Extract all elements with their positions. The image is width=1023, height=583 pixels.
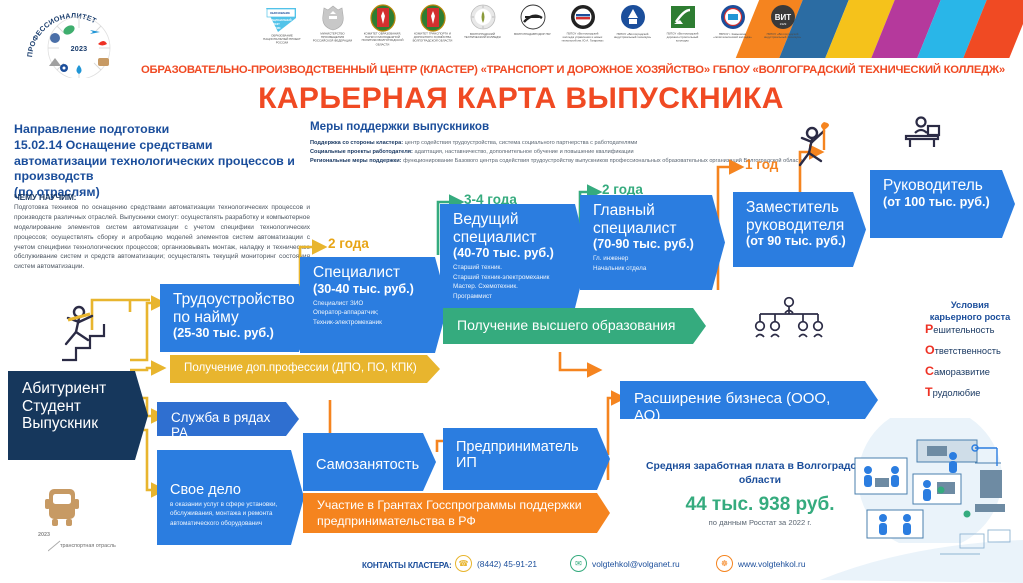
logo-committee-transport-roads: КОМИТЕТ ТРАНСПОРТА И ДОРОЖНОГО ХОЗЯЙСТВА… bbox=[413, 2, 452, 43]
growth-item-2: Саморазвитие bbox=[925, 364, 990, 378]
logo-road-construction-college: ГБПОУ «Волгоградский дорожно-строительны… bbox=[663, 2, 702, 43]
box-lead-specialist: Ведущий специалист (40-70 тыс. руб.) Ста… bbox=[440, 204, 588, 308]
logo-caption: МИНИСТЕРСТВО ПРОСВЕЩЕНИЯ РОССИЙСКОЙ ФЕДЕ… bbox=[311, 32, 355, 43]
box-grants: Участие в Грантах Госспрограммы поддержк… bbox=[303, 493, 610, 533]
box-title: Заместитель руководителя bbox=[746, 199, 848, 234]
svg-text:2023: 2023 bbox=[71, 44, 88, 53]
duration-label-1-year: 1 год bbox=[745, 157, 778, 172]
logo-caption: ВОЛГОГРАДСКИЙ ТЕХНИЧЕСКИЙ КОЛЛЕДЖ bbox=[461, 33, 505, 40]
career-map-infographic: ПРОФЕССИОНАЛИТЕТ 2023 ОБРАЗО bbox=[0, 0, 1023, 583]
box-title: Руководитель bbox=[883, 177, 997, 195]
support-text: центр содействия трудоустройства, систем… bbox=[403, 140, 637, 146]
box-title: Трудоустройство по найму bbox=[173, 291, 294, 326]
support-item-employer: Социальные проекты работодателя: адаптац… bbox=[310, 148, 830, 156]
teach-heading: ЧЕМУ НАУЧИМ: bbox=[14, 192, 76, 202]
box-salary: (30-40 тыс. руб.) bbox=[313, 282, 430, 297]
box-specialist: Специалист (30-40 тыс. руб.) Специалист … bbox=[300, 257, 448, 353]
box-roles: Старший техник. Старший техник-электроме… bbox=[453, 263, 570, 301]
globe-icon: ☸ bbox=[716, 555, 733, 572]
box-salary: (от 90 тыс. руб.) bbox=[746, 234, 848, 249]
support-text: адаптация, наставничество, дополнительно… bbox=[413, 149, 634, 155]
box-salary: (от 100 тыс. руб.) bbox=[883, 195, 997, 210]
logo-caption: ГБПОУ г. Камышина «политехнический колле… bbox=[711, 33, 755, 40]
svg-text:НАЦИОНАЛЬНЫЙ: НАЦИОНАЛЬНЫЙ bbox=[270, 19, 292, 22]
footer-phone-text: (8442) 45-91-21 bbox=[477, 559, 537, 569]
teach-text: Подготовка техников по оснащению средств… bbox=[14, 203, 310, 272]
growth-item-1: Ответственность bbox=[925, 343, 1001, 357]
support-label: Региональные меры поддержки: bbox=[310, 158, 402, 164]
box-army-service: Служба в рядах РА bbox=[157, 402, 299, 436]
box-roles: Специалист ЗИО Оператор-аппаратчик; Техн… bbox=[313, 299, 430, 327]
growth-heading-line2: карьерного роста bbox=[930, 312, 1011, 322]
logo-volgograd-technical-college: ВОЛГОГРАДСКИЙ ТЕХНИЧЕСКИЙ КОЛЛЕДЖ bbox=[463, 2, 502, 39]
entry-line-2: Студент bbox=[22, 398, 130, 416]
box-title: Получение высшего образования bbox=[457, 317, 688, 333]
duration-label-2-years-second: 2 года bbox=[602, 182, 643, 197]
box-roles: Гл. инженер Начальник отдела bbox=[593, 254, 707, 273]
entry-box: Абитуриент Студент Выпускник bbox=[8, 371, 148, 460]
direction-label: Направление подготовки bbox=[14, 122, 169, 136]
phone-icon: ☎ bbox=[455, 555, 472, 572]
professionalitet-logo: ПРОФЕССИОНАЛИТЕТ 2023 bbox=[18, 8, 128, 80]
growth-word: тветственность bbox=[935, 346, 1001, 356]
box-entrepreneur: Предприниматель ИП bbox=[443, 428, 610, 490]
box-title: Получение доп.профессии (ДПО, ПО, КПК) bbox=[184, 361, 422, 374]
box-salary: (40-70 тыс. руб.) bbox=[453, 246, 570, 261]
box-title: Служба в рядах РА bbox=[171, 410, 281, 440]
box-title: Свое дело bbox=[170, 482, 286, 498]
growth-letter: Т bbox=[925, 385, 933, 399]
logo-caption: ГБПОУ «Волгоградский дорожно-строительны… bbox=[661, 32, 705, 43]
box-description: в оказании услуг в сфере установки, обсл… bbox=[170, 500, 286, 528]
support-heading: Меры поддержки выпускников bbox=[310, 120, 489, 133]
box-salary: (70-90 тыс. руб.) bbox=[593, 237, 707, 252]
box-self-employment: Самозанятость bbox=[303, 433, 436, 491]
envelope-icon: ✉ bbox=[570, 555, 587, 572]
growth-letter: С bbox=[925, 364, 934, 378]
logo-vit-college: ВИТ 1929 ГБПОУ «Волгоградский индустриал… bbox=[763, 2, 802, 39]
partner-logos: ОБРАЗОВАНИЕ НАЦИОНАЛЬНЫЙ ПРОЕКТ РОССИИ О… bbox=[262, 2, 802, 54]
cluster-title: ОБРАЗОВАТЕЛЬНО-ПРОИЗВОДСТВЕННЫЙ ЦЕНТР (К… bbox=[141, 64, 1021, 76]
footer-website[interactable]: ☸ www.volgtehkol.ru bbox=[716, 555, 806, 572]
footer-site-text: www.volgtehkol.ru bbox=[738, 559, 806, 569]
logo-caption: КОМИТЕТ ОБРАЗОВАНИЯ, НАУКИ И МОЛОДЕЖНОЙ … bbox=[361, 32, 405, 46]
footer-email[interactable]: ✉ volgtehkol@volganet.ru bbox=[570, 555, 680, 572]
bus-year: 2023 bbox=[38, 532, 50, 538]
box-own-business: Свое дело в оказании услуг в сфере устан… bbox=[157, 450, 304, 545]
page-title: КАРЬЕРНАЯ КАРТА ВЫПУСКНИКА bbox=[141, 82, 901, 116]
box-title: Предприниматель ИП bbox=[456, 439, 592, 471]
support-label: Поддержка со стороны кластера: bbox=[310, 140, 403, 146]
growth-heading-line1: Условия bbox=[951, 300, 989, 310]
growth-word: аморазвитие bbox=[934, 367, 990, 377]
footer-label: КОНТАКТЫ КЛАСТЕРА: bbox=[362, 561, 452, 570]
box-business-expansion: Расширение бизнеса (ООО, АО) bbox=[620, 381, 878, 419]
logo-ministry-of-education: МИНИСТЕРСТВО ПРОСВЕЩЕНИЯ РОССИЙСКОЙ ФЕДЕ… bbox=[313, 2, 352, 43]
support-item-cluster: Поддержка со стороны кластера: центр сод… bbox=[310, 139, 830, 147]
box-director: Руководитель (от 100 тыс. руб.) bbox=[870, 170, 1015, 238]
box-higher-education: Получение высшего образования bbox=[443, 308, 706, 344]
logo-committee-education-science: КОМИТЕТ ОБРАЗОВАНИЯ, НАУКИ И МОЛОДЕЖНОЙ … bbox=[363, 2, 402, 46]
logo-caption: ГБПОУ «Волгоградский колледж управления … bbox=[561, 32, 605, 43]
direction-code-text: 15.02.14 Оснащение средствами автоматиза… bbox=[14, 138, 295, 183]
logo-volgogradavtodor: ВОЛГОГРАДАВТОДОР ГБУ bbox=[513, 2, 552, 36]
logo-industrial-college: ГБПОУ «Волгоградский индустриальный техн… bbox=[613, 2, 652, 39]
footer-swoosh bbox=[820, 528, 1023, 583]
box-title: Самозанятость bbox=[316, 457, 418, 473]
growth-word: ешительность bbox=[933, 325, 994, 335]
logo-caption: ОБРАЗОВАНИЕ НАЦИОНАЛЬНЫЙ ПРОЕКТ РОССИИ bbox=[260, 34, 305, 45]
logo-college-management-new-tech: ГБПОУ «Волгоградский колледж управления … bbox=[563, 2, 602, 43]
box-title: Расширение бизнеса (ООО, АО) bbox=[634, 390, 860, 424]
logo-caption: ВОЛГОГРАДАВТОДОР ГБУ bbox=[511, 33, 555, 37]
growth-letter: О bbox=[925, 343, 935, 357]
footer-phone[interactable]: ☎ (8442) 45-91-21 bbox=[455, 555, 537, 572]
svg-text:1929: 1929 bbox=[779, 22, 786, 26]
entry-line-1: Абитуриент bbox=[22, 380, 130, 398]
bus-caption: транспортная отрасль bbox=[60, 542, 116, 550]
growth-item-3: Трудолюбие bbox=[925, 385, 980, 399]
box-title: Специалист bbox=[313, 264, 430, 282]
support-text: функционирование Базового центра содейст… bbox=[402, 158, 804, 164]
duration-label-2-years-first: 2 года bbox=[328, 236, 369, 251]
box-chief-specialist: Главный специалист (70-90 тыс. руб.) Гл.… bbox=[580, 195, 725, 290]
svg-text:ПРОЕКТ: ПРОЕКТ bbox=[270, 23, 280, 26]
logo-kamyshin-polytechnic: ГБПОУ г. Камышина «политехнический колле… bbox=[713, 2, 752, 39]
logo-caption: ГБПОУ «Волгоградский индустриальный техн… bbox=[761, 33, 805, 40]
factory-illustration bbox=[835, 418, 1015, 543]
logo-national-project-education: ОБРАЗОВАНИЕ НАЦИОНАЛЬНЫЙ ПРОЕКТ РОССИИ О… bbox=[262, 2, 302, 45]
entry-line-3: Выпускник bbox=[22, 415, 130, 433]
growth-word: рудолюбие bbox=[933, 388, 981, 398]
box-title: Главный специалист bbox=[593, 202, 707, 237]
growth-heading: Условия карьерного роста bbox=[920, 300, 1020, 324]
growth-item-0: Решительность bbox=[925, 322, 994, 336]
svg-text:ОБРАЗОВАНИЕ: ОБРАЗОВАНИЕ bbox=[270, 11, 290, 15]
bus-icon bbox=[43, 487, 81, 527]
box-title: Ведущий специалист bbox=[453, 211, 570, 246]
box-extra-profession: Получение доп.профессии (ДПО, ПО, КПК) bbox=[170, 355, 440, 383]
support-label: Социальные проекты работодателя: bbox=[310, 149, 413, 155]
svg-text:ВИТ: ВИТ bbox=[774, 13, 791, 22]
box-deputy-director: Заместитель руководителя (от 90 тыс. руб… bbox=[733, 192, 866, 267]
footer-email-text: volgtehkol@volganet.ru bbox=[592, 559, 680, 569]
box-title: Участие в Грантах Госспрограммы поддержк… bbox=[317, 498, 592, 529]
box-employment: Трудоустройство по найму (25-30 тыс. руб… bbox=[160, 284, 312, 352]
bus-pointer-line bbox=[48, 540, 64, 552]
box-salary: (25-30 тыс. руб.) bbox=[173, 326, 294, 341]
logo-caption: КОМИТЕТ ТРАНСПОРТА И ДОРОЖНОГО ХОЗЯЙСТВА… bbox=[411, 32, 455, 43]
logo-caption: ГБПОУ «Волгоградский индустриальный техн… bbox=[611, 33, 655, 40]
svg-text:РОССИИ: РОССИИ bbox=[270, 27, 281, 30]
